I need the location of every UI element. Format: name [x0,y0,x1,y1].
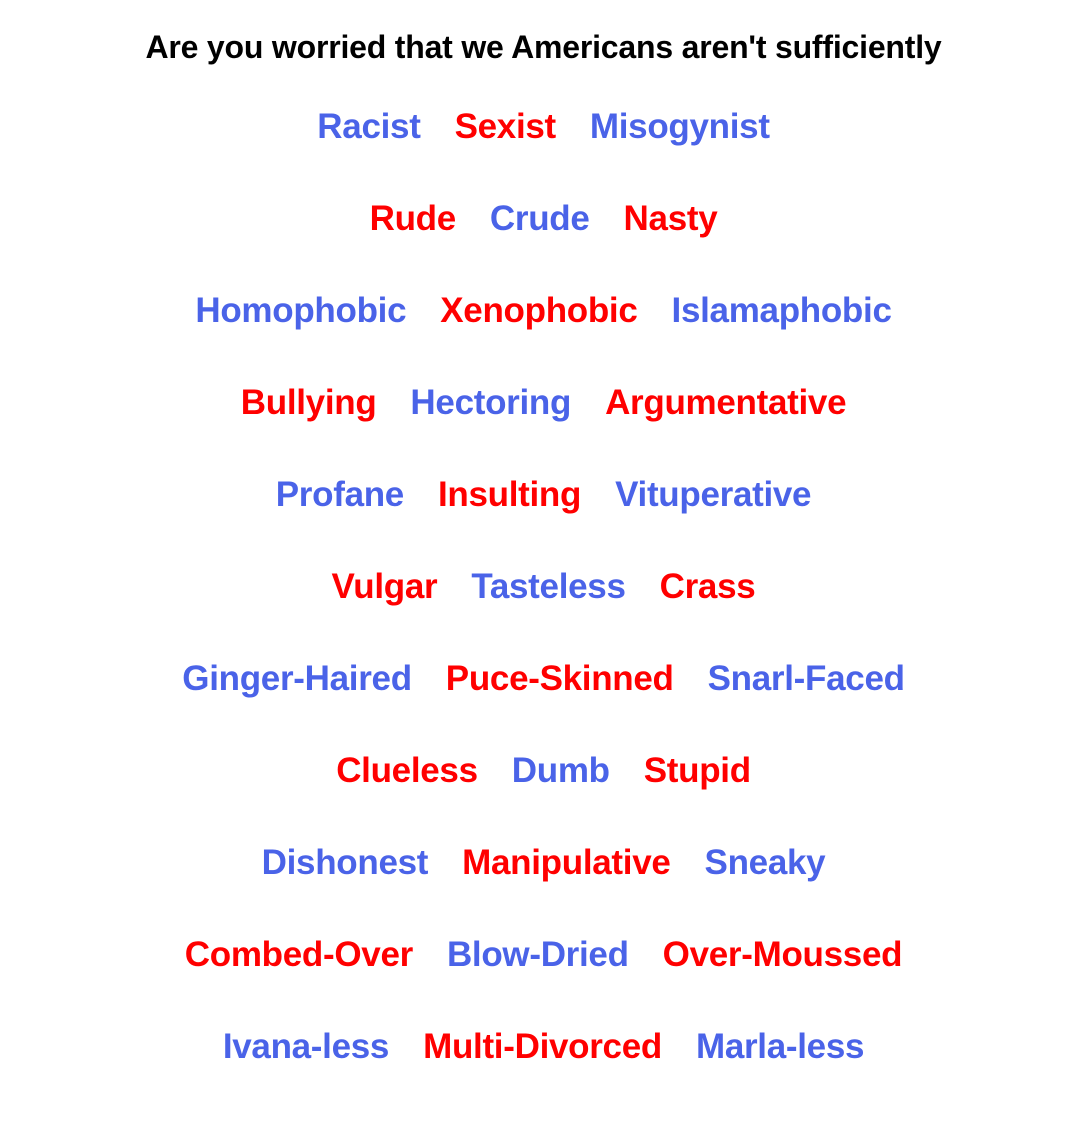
word-item: Bullying [241,385,377,420]
word-item: Nasty [624,201,718,236]
word-item: Dishonest [262,845,429,880]
word-item: Stupid [644,753,751,788]
word-item: Islamaphobic [672,293,892,328]
word-item: Multi-Divorced [423,1029,662,1064]
word-item: Ginger-Haired [182,661,411,696]
word-row: Ivana-lessMulti-DivorcedMarla-less [0,1029,1087,1121]
word-row: ProfaneInsultingVituperative [0,477,1087,569]
word-item: Ivana-less [223,1029,389,1064]
word-item: Manipulative [462,845,670,880]
word-row: HomophobicXenophobicIslamaphobic [0,293,1087,385]
word-item: Xenophobic [440,293,637,328]
word-list: RacistSexistMisogynistRudeCrudeNastyHomo… [0,109,1087,1121]
word-item: Sexist [455,109,556,144]
word-item: Vulgar [332,569,438,604]
word-item: Vituperative [615,477,811,512]
word-item: Blow-Dried [447,937,629,972]
word-row: RudeCrudeNasty [0,201,1087,293]
word-item: Rude [370,201,456,236]
word-item: Homophobic [195,293,406,328]
word-item: Sneaky [705,845,826,880]
word-row: Combed-OverBlow-DriedOver-Moussed [0,937,1087,1029]
word-item: Snarl-Faced [708,661,905,696]
word-item: Hectoring [410,385,571,420]
word-row: DishonestManipulativeSneaky [0,845,1087,937]
page-title: Are you worried that we Americans aren't… [145,30,941,65]
word-item: Profane [276,477,404,512]
word-item: Dumb [512,753,610,788]
poster-canvas: Are you worried that we Americans aren't… [0,0,1087,1097]
word-item: Insulting [438,477,581,512]
word-item: Misogynist [590,109,770,144]
word-item: Over-Moussed [663,937,903,972]
word-item: Tasteless [471,569,625,604]
word-item: Crass [660,569,756,604]
word-row: CluelessDumbStupid [0,753,1087,845]
word-row: BullyingHectoringArgumentative [0,385,1087,477]
word-item: Puce-Skinned [446,661,674,696]
word-item: Marla-less [696,1029,864,1064]
word-row: Ginger-HairedPuce-SkinnedSnarl-Faced [0,661,1087,753]
word-item: Racist [317,109,420,144]
word-row: VulgarTastelessCrass [0,569,1087,661]
word-item: Clueless [336,753,478,788]
word-item: Argumentative [605,385,846,420]
word-row: RacistSexistMisogynist [0,109,1087,201]
word-item: Combed-Over [185,937,413,972]
word-item: Crude [490,201,590,236]
